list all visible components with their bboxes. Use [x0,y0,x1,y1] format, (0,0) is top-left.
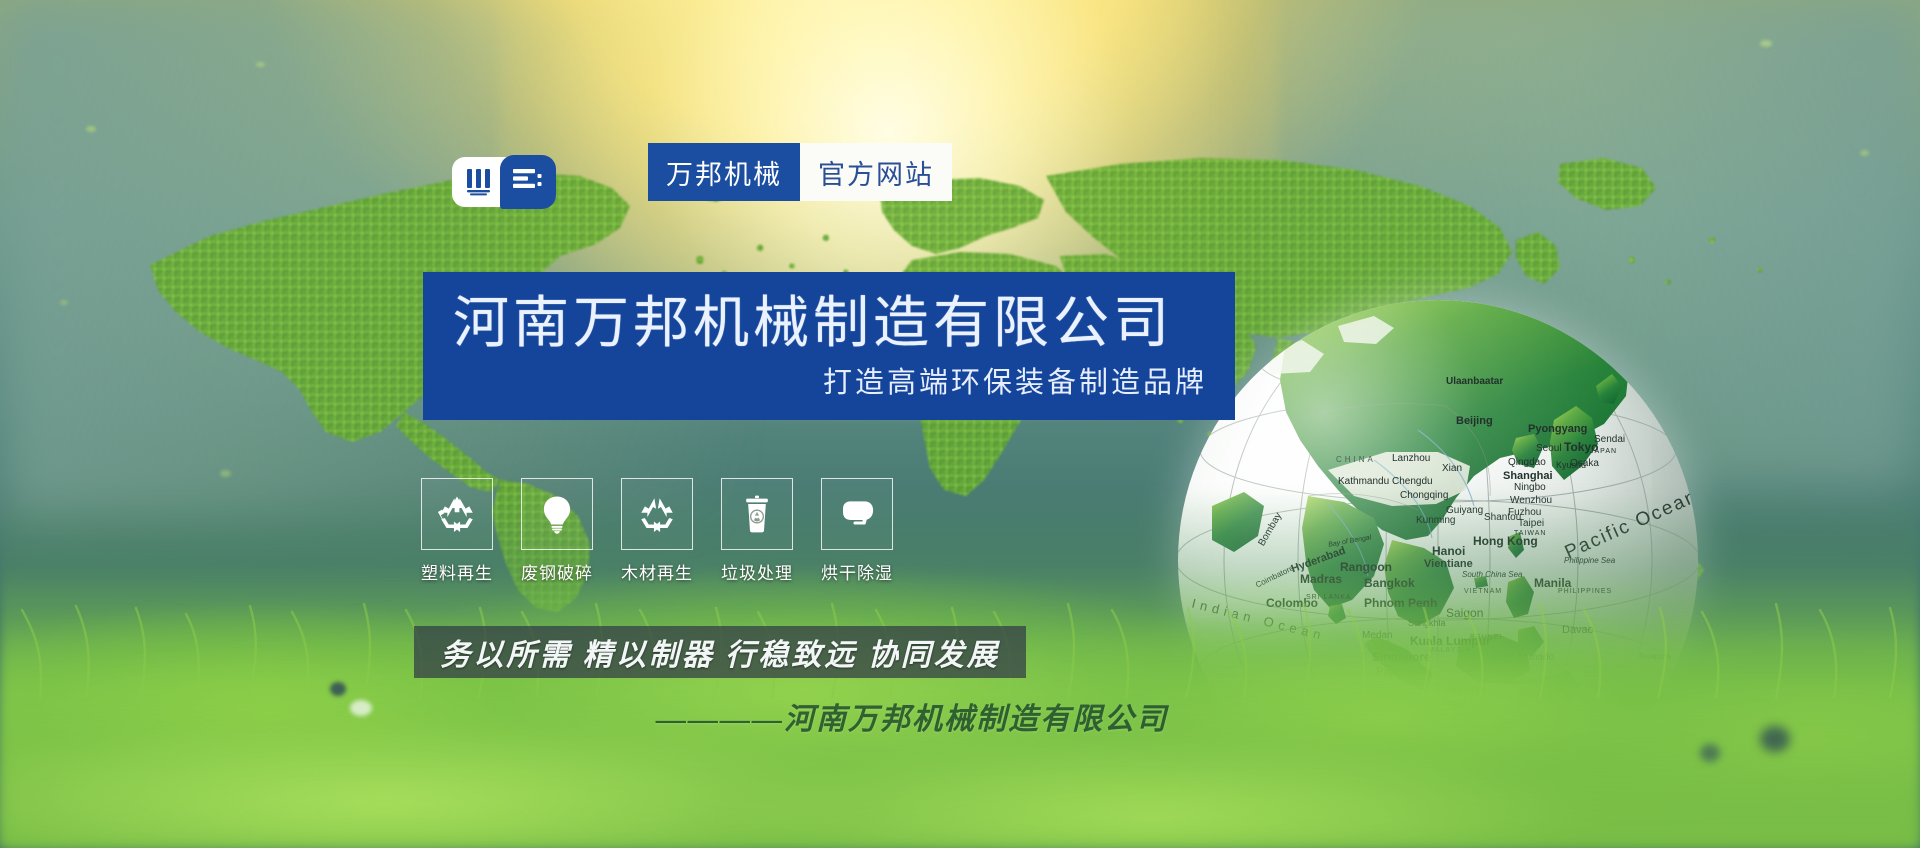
company-name: 河南万邦机械制造有限公司 [453,288,1173,358]
dryer-drum-icon [836,493,878,535]
lightbulb-icon [536,493,578,535]
logo-e-bubble-icon [500,155,556,209]
service-icon-box[interactable] [421,478,493,550]
slogan-text: 务以所需 精以制器 行稳致远 协同发展 [440,630,1000,674]
service-item-drying-dehumidification[interactable]: 烘干除湿 [822,478,892,584]
trash-bin-icon [737,494,777,534]
company-logo[interactable] [452,157,556,207]
slogan-signature: ————河南万邦机械制造有限公司 [656,694,1168,738]
hero-banner: Pacific Ocean Indian Ocean Hong Kong Bei… [0,0,1920,848]
service-icon-box[interactable] [621,478,693,550]
dew-drop [1700,744,1720,762]
service-item-scrap-steel-crushing[interactable]: 废钢破碎 [522,478,592,584]
service-icon-box[interactable] [521,478,593,550]
nav-site-label[interactable]: 官方网站 [800,143,952,201]
service-label: 烘干除湿 [821,559,893,584]
bokeh-speck [220,470,231,477]
bokeh-speck [256,62,265,67]
dew-drop [330,682,346,696]
dew-drop [350,700,372,716]
nav-brand-label[interactable]: 万邦机械 [648,143,800,201]
slogan-bar: 务以所需 精以制器 行稳致远 协同发展 [414,626,1026,678]
service-icon-row: 塑料再生 废钢破碎 [422,478,892,584]
recycle-icon [636,493,678,535]
company-tagline: 打造高端环保装备制造品牌 [823,364,1207,402]
service-item-waste-treatment[interactable]: 垃圾处理 [722,478,792,584]
service-label: 垃圾处理 [721,559,793,584]
bokeh-speck [1760,40,1772,47]
service-icon-box[interactable] [721,478,793,550]
service-label: 木材再生 [621,559,693,584]
service-label: 塑料再生 [421,559,493,584]
bokeh-speck [1860,150,1869,156]
hero-title-panel: 河南万邦机械制造有限公司 打造高端环保装备制造品牌 [423,272,1235,420]
bokeh-speck [86,126,96,132]
service-label: 废钢破碎 [521,559,593,584]
dew-drop [1760,726,1790,752]
recycle-icon [436,493,478,535]
service-item-wood-recycling[interactable]: 木材再生 [622,478,692,584]
site-nav[interactable]: 万邦机械 官方网站 [648,143,952,201]
logo-w-icon [466,168,496,196]
bokeh-speck [60,300,68,305]
service-item-plastic-recycling[interactable]: 塑料再生 [422,478,492,584]
service-icon-box[interactable] [821,478,893,550]
